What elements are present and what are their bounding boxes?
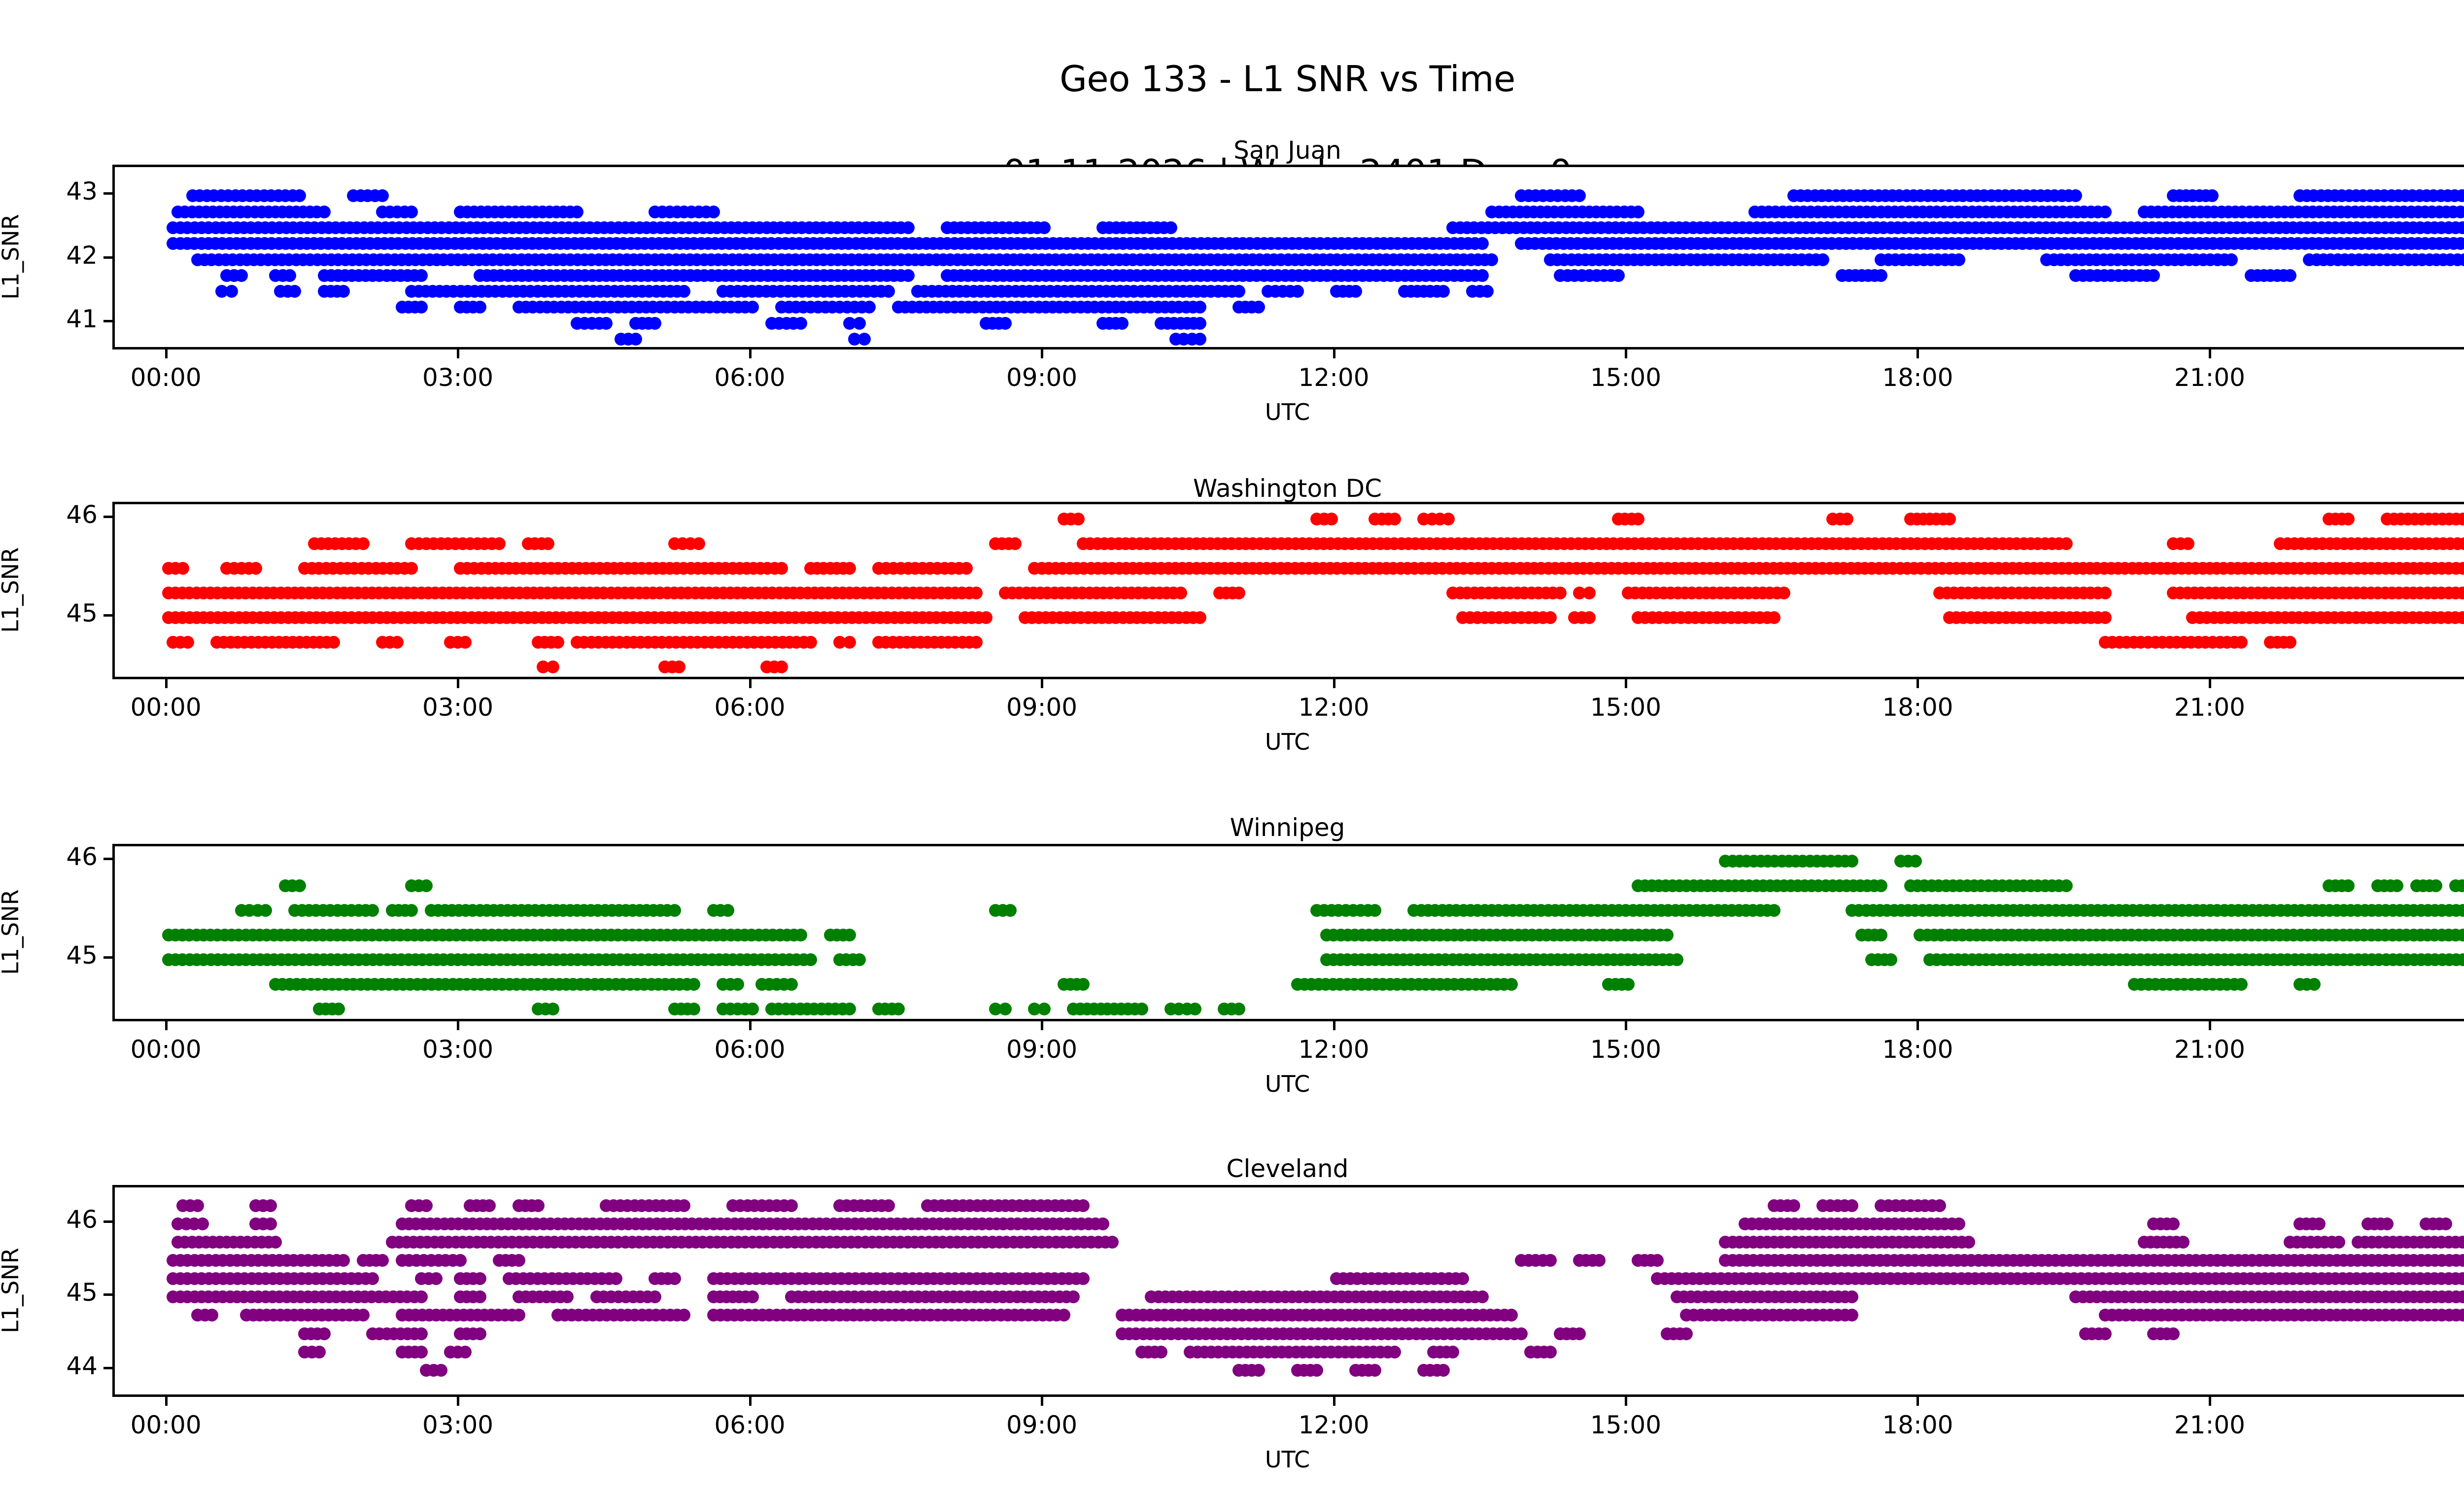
data-point — [293, 879, 306, 892]
data-point — [1164, 221, 1177, 234]
data-point — [1476, 269, 1489, 282]
y-tick-label: 46 — [19, 842, 98, 871]
data-point — [746, 1003, 759, 1015]
data-point — [1194, 611, 1206, 624]
data-point — [2342, 513, 2355, 525]
x-tick-mark — [1625, 1021, 1627, 1030]
data-point — [2308, 978, 2321, 991]
data-point — [459, 636, 472, 649]
data-point — [269, 1236, 282, 1249]
data-point — [2225, 253, 2238, 266]
x-tick-mark — [1916, 679, 1919, 688]
data-point — [1072, 513, 1085, 525]
data-point — [1651, 1254, 1664, 1267]
data-point — [1544, 1254, 1557, 1267]
panel-title-winnipeg: Winnipeg — [0, 813, 2464, 842]
data-point — [376, 189, 389, 202]
x-axis-label: UTC — [0, 729, 2464, 755]
data-point — [405, 562, 418, 575]
data-point — [547, 1003, 559, 1015]
x-tick-mark — [165, 1021, 168, 1030]
data-point — [980, 611, 992, 624]
data-point — [1505, 978, 1518, 991]
data-point — [2332, 1236, 2345, 1249]
data-point — [366, 1272, 379, 1285]
data-point — [629, 333, 642, 346]
y-tick-label: 45 — [19, 599, 98, 627]
data-point — [785, 978, 798, 991]
data-point — [858, 333, 871, 346]
x-tick-mark — [1041, 1021, 1043, 1030]
data-point — [731, 978, 744, 991]
data-point — [1077, 978, 1090, 991]
data-point — [668, 1272, 681, 1285]
x-tick-label: 09:00 — [968, 1035, 1116, 1064]
data-point — [1038, 1003, 1051, 1015]
x-tick-mark — [1041, 349, 1043, 358]
data-point — [430, 1272, 443, 1285]
y-axis-label: L1_SNR — [0, 501, 24, 679]
data-point — [1632, 513, 1644, 525]
data-point — [1194, 333, 1206, 346]
data-point — [551, 636, 564, 649]
x-tick-label: 15:00 — [1552, 363, 1700, 392]
chart-figure: Geo 133 - L1 SNR vs Time 01-11-2026 | We… — [0, 0, 2464, 1495]
x-tick-label: 21:00 — [2136, 693, 2284, 722]
data-point — [493, 537, 506, 550]
data-point — [649, 317, 661, 330]
data-point — [376, 1254, 389, 1267]
data-point — [264, 1199, 277, 1212]
data-point — [2099, 206, 2112, 218]
data-point — [707, 206, 720, 218]
data-point — [1437, 285, 1450, 298]
panel-title-san-juan: San Juan — [0, 136, 2464, 165]
panel-title-washington-dc: Washington DC — [0, 474, 2464, 503]
plot-area-washington-dc — [112, 502, 2464, 679]
y-tick-mark — [103, 256, 112, 259]
x-tick-label: 06:00 — [676, 1035, 824, 1064]
data-point — [1476, 237, 1489, 250]
data-point — [843, 929, 856, 941]
y-tick-label: 45 — [19, 941, 98, 970]
data-point — [532, 1199, 545, 1212]
data-point — [332, 1003, 345, 1015]
data-point — [882, 1199, 895, 1212]
data-point — [2099, 587, 2112, 599]
x-tick-mark — [749, 679, 752, 688]
data-point — [1067, 1290, 1080, 1303]
data-point — [474, 1290, 486, 1303]
data-point — [1291, 285, 1304, 298]
data-point — [2439, 1217, 2452, 1230]
data-point — [1388, 513, 1401, 525]
y-tick-label: 46 — [19, 500, 98, 529]
data-point — [1174, 587, 1187, 599]
data-point — [1875, 929, 1887, 941]
data-point — [1846, 1199, 1858, 1212]
data-point — [327, 636, 340, 649]
data-point — [1816, 253, 1829, 266]
plot-area-cleveland — [112, 1185, 2464, 1397]
data-point — [970, 636, 983, 649]
data-point — [513, 1254, 525, 1267]
x-tick-mark — [1333, 1021, 1335, 1030]
y-tick-label: 41 — [19, 305, 98, 333]
data-point — [1846, 855, 1858, 868]
data-point — [318, 206, 331, 218]
data-point — [721, 904, 734, 917]
data-point — [1787, 1199, 1800, 1212]
x-tick-mark — [1333, 349, 1335, 358]
data-point — [999, 1003, 1012, 1015]
data-point — [1583, 587, 1596, 599]
data-point — [1768, 611, 1780, 624]
data-point — [293, 189, 306, 202]
data-point — [2167, 1217, 2180, 1230]
data-point — [1325, 513, 1338, 525]
data-point — [2177, 1236, 2190, 1249]
data-point — [999, 317, 1012, 330]
data-point — [405, 904, 418, 917]
x-tick-label: 03:00 — [384, 1035, 532, 1064]
x-axis-label: UTC — [0, 399, 2464, 425]
data-point — [1768, 904, 1780, 917]
x-tick-label: 18:00 — [1844, 363, 1991, 392]
data-point — [863, 301, 876, 313]
data-point — [196, 1217, 209, 1230]
data-point — [357, 537, 370, 550]
data-point — [1096, 1217, 1109, 1230]
data-point — [649, 1290, 661, 1303]
data-point — [420, 879, 433, 892]
y-tick-label: 42 — [19, 241, 98, 270]
x-tick-mark — [457, 349, 459, 358]
data-point — [902, 269, 915, 282]
data-point — [668, 904, 681, 917]
data-point — [2147, 269, 2160, 282]
data-point — [2381, 1217, 2394, 1230]
data-point — [474, 1272, 486, 1285]
data-point — [2235, 636, 2248, 649]
data-point — [2060, 879, 2073, 892]
x-tick-mark — [1916, 349, 1919, 358]
x-tick-mark — [457, 679, 459, 688]
x-tick-label: 03:00 — [384, 363, 532, 392]
x-tick-label: 00:00 — [92, 693, 240, 722]
data-point — [1106, 1236, 1119, 1249]
data-point — [391, 636, 404, 649]
y-tick-mark — [103, 956, 112, 959]
x-tick-label: 15:00 — [1552, 693, 1700, 722]
data-point — [288, 285, 301, 298]
x-tick-label: 18:00 — [1844, 693, 1991, 722]
data-point — [415, 1290, 428, 1303]
data-point — [687, 978, 700, 991]
data-point — [1442, 513, 1455, 525]
data-point — [2284, 636, 2296, 649]
data-point — [746, 1290, 759, 1303]
data-point — [249, 562, 262, 575]
data-point — [1194, 301, 1206, 313]
x-tick-label: 00:00 — [92, 363, 240, 392]
data-point — [1349, 285, 1362, 298]
data-point — [1962, 1236, 1975, 1249]
data-point — [970, 587, 983, 599]
y-axis-label: L1_SNR — [0, 843, 24, 1021]
data-point — [1632, 206, 1644, 218]
data-point — [571, 206, 583, 218]
data-point — [454, 1254, 467, 1267]
x-tick-mark — [1041, 679, 1043, 688]
x-tick-mark — [2209, 679, 2211, 688]
y-axis-label: L1_SNR — [0, 164, 24, 349]
data-point — [420, 1199, 433, 1212]
data-point — [2456, 221, 2464, 234]
y-tick-mark — [103, 516, 112, 518]
data-point — [1933, 1199, 1946, 1212]
data-point — [853, 317, 866, 330]
data-point — [181, 636, 194, 649]
data-point — [1943, 513, 1956, 525]
data-point — [1661, 929, 1674, 941]
data-point — [1909, 855, 1922, 868]
data-point — [561, 1290, 574, 1303]
y-tick-mark — [103, 320, 112, 322]
data-point — [1884, 953, 1897, 966]
data-point — [775, 661, 788, 673]
data-point — [2235, 978, 2248, 991]
x-tick-label: 18:00 — [1844, 1035, 1991, 1064]
data-point — [474, 301, 486, 313]
data-point — [902, 221, 915, 234]
data-point — [1573, 189, 1586, 202]
data-point — [1077, 1272, 1090, 1285]
data-point — [1544, 611, 1557, 624]
data-point — [176, 562, 189, 575]
x-tick-label: 06:00 — [676, 363, 824, 392]
x-tick-mark — [165, 349, 168, 358]
x-tick-mark — [1625, 349, 1627, 358]
x-axis-label: UTC — [0, 1071, 2464, 1097]
panel-title-cleveland: Cleveland — [0, 1154, 2464, 1183]
x-tick-mark — [457, 1021, 459, 1030]
data-point — [2206, 189, 2219, 202]
data-point — [678, 1199, 690, 1212]
data-point — [1456, 1272, 1469, 1285]
x-tick-label: 12:00 — [1260, 1035, 1408, 1064]
x-tick-label: 21:00 — [2136, 363, 2284, 392]
x-tick-label: 00:00 — [2428, 693, 2464, 722]
data-point — [804, 636, 817, 649]
y-tick-mark — [103, 614, 112, 617]
plot-area-san-juan — [112, 165, 2464, 349]
data-point — [678, 285, 690, 298]
data-point — [283, 269, 296, 282]
x-tick-label: 00:00 — [92, 1035, 240, 1064]
data-point — [1189, 1003, 1201, 1015]
x-tick-label: 15:00 — [1552, 1035, 1700, 1064]
y-tick-label: 43 — [19, 177, 98, 206]
data-point — [610, 1272, 622, 1285]
data-point — [1846, 1290, 1858, 1303]
data-point — [2313, 1217, 2326, 1230]
data-point — [960, 562, 973, 575]
data-point — [1135, 1003, 1148, 1015]
x-tick-mark — [165, 679, 168, 688]
x-tick-label: 21:00 — [2136, 1035, 2284, 1064]
data-point — [1612, 269, 1625, 282]
data-point — [366, 904, 379, 917]
data-point — [542, 537, 554, 550]
x-tick-label: 09:00 — [968, 693, 1116, 722]
data-point — [692, 537, 705, 550]
x-tick-label: 03:00 — [384, 693, 532, 722]
data-point — [794, 929, 807, 941]
data-point — [191, 1199, 204, 1212]
data-point — [1009, 537, 1022, 550]
data-point — [1476, 1290, 1489, 1303]
data-point — [1077, 1199, 1090, 1212]
data-point — [1481, 285, 1494, 298]
data-point — [1622, 978, 1635, 991]
data-point — [2391, 879, 2403, 892]
data-point — [337, 285, 350, 298]
data-point — [843, 636, 856, 649]
suptitle-line-1: Geo 133 - L1 SNR vs Time — [1060, 58, 1515, 100]
data-point — [405, 206, 418, 218]
data-point — [2430, 879, 2442, 892]
data-point — [1554, 587, 1567, 599]
data-point — [1038, 221, 1051, 234]
x-tick-mark — [749, 349, 752, 358]
data-point — [1369, 904, 1381, 917]
data-point — [483, 1199, 496, 1212]
data-point — [2342, 879, 2355, 892]
x-tick-mark — [1916, 1021, 1919, 1030]
data-point — [547, 661, 559, 673]
data-point — [1952, 253, 1965, 266]
x-tick-mark — [1625, 679, 1627, 688]
data-point — [1875, 269, 1887, 282]
data-point — [337, 1254, 350, 1267]
data-point — [1194, 317, 1206, 330]
data-point — [804, 953, 817, 966]
data-point — [2069, 189, 2082, 202]
data-point — [235, 269, 248, 282]
data-point — [1583, 611, 1596, 624]
x-tick-mark — [2209, 1021, 2211, 1030]
data-point — [2099, 611, 2112, 624]
x-tick-label: 12:00 — [1260, 693, 1408, 722]
data-point — [415, 301, 428, 313]
x-tick-label: 06:00 — [676, 693, 824, 722]
data-point — [415, 269, 428, 282]
data-point — [225, 285, 238, 298]
x-tick-label: 12:00 — [1260, 363, 1408, 392]
data-point — [1232, 285, 1245, 298]
data-point — [259, 904, 272, 917]
x-tick-mark — [1333, 679, 1335, 688]
data-point — [2060, 537, 2073, 550]
data-point — [2182, 537, 2194, 550]
x-tick-label: 09:00 — [968, 363, 1116, 392]
data-point — [1004, 904, 1017, 917]
data-point — [2284, 269, 2296, 282]
data-point — [600, 317, 613, 330]
data-point — [1671, 953, 1683, 966]
data-point — [1116, 317, 1129, 330]
data-point — [1252, 301, 1265, 313]
y-tick-mark — [103, 192, 112, 195]
data-point — [853, 953, 866, 966]
data-point — [687, 1003, 700, 1015]
data-point — [1593, 1254, 1606, 1267]
data-point — [1952, 1217, 1965, 1230]
data-point — [843, 562, 856, 575]
x-tick-label: 00:00 — [2428, 363, 2464, 392]
data-point — [1232, 587, 1245, 599]
data-point — [746, 301, 759, 313]
x-tick-mark — [749, 1021, 752, 1030]
data-point — [785, 1199, 798, 1212]
data-point — [264, 1217, 277, 1230]
data-point — [843, 1003, 856, 1015]
data-point — [1485, 253, 1498, 266]
data-point — [1778, 587, 1790, 599]
data-point — [1232, 1003, 1245, 1015]
data-point — [1841, 513, 1853, 525]
data-point — [1875, 879, 1887, 892]
x-tick-mark — [2209, 349, 2211, 358]
data-point — [775, 562, 788, 575]
data-point — [892, 1003, 905, 1015]
plot-area-winnipeg — [112, 844, 2464, 1021]
data-point — [794, 317, 807, 330]
data-point — [882, 285, 895, 298]
data-point — [673, 661, 685, 673]
x-tick-label: 00:00 — [2428, 1035, 2464, 1064]
y-tick-mark — [103, 858, 112, 860]
